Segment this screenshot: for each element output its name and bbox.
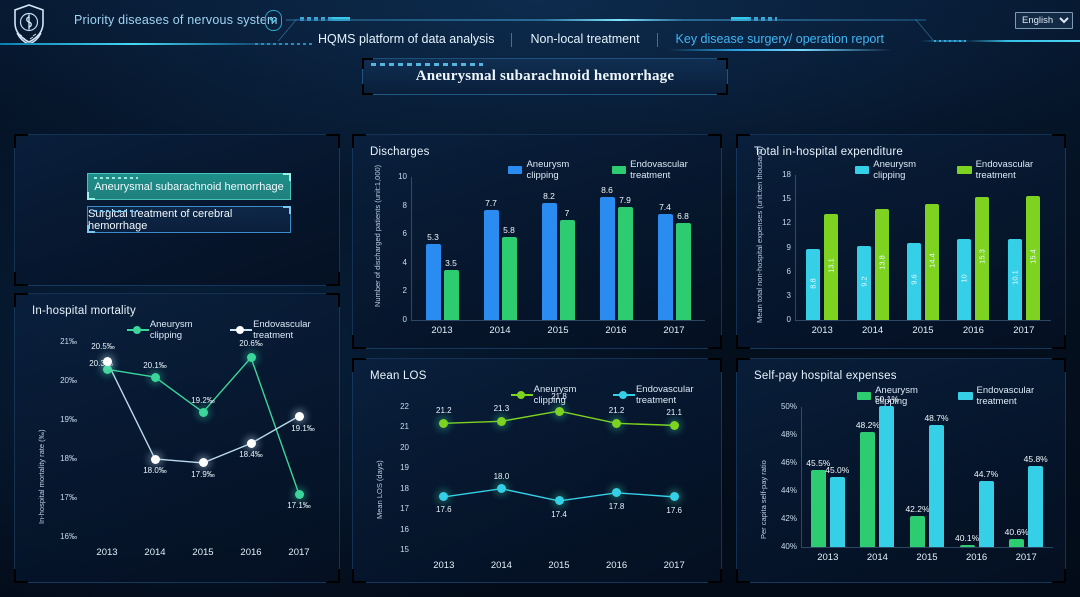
data-point-label: 17.4 — [537, 510, 581, 519]
x-axis-tick: 2013 — [796, 325, 848, 336]
bar-value-label: 45.8% — [1020, 454, 1052, 464]
nav-item-non-local-treatment[interactable]: Non-local treatment — [512, 32, 657, 46]
data-point-in_hospital_mortality-2015-s1[interactable] — [199, 458, 208, 467]
y-axis-tick: 18‰ — [43, 454, 77, 463]
y-axis-line — [411, 177, 412, 320]
mean-los-plot-area: 15161718192021222013201420152016201721.2… — [415, 407, 703, 550]
x-axis-tick: 2015 — [897, 325, 949, 336]
bar-value-label: 7 — [551, 208, 583, 218]
bar-self_pay-2013-s0[interactable] — [811, 470, 826, 547]
y-axis-tick: 22 — [383, 402, 409, 411]
y-axis-tick: 19 — [383, 463, 409, 472]
bar-discharges-2014-s1[interactable] — [502, 237, 517, 320]
bar-value-label: 3.5 — [435, 258, 467, 268]
legend-label: Aneurysm clipping — [150, 319, 216, 341]
panel-corner-tl — [736, 134, 750, 148]
bar-self_pay-2014-s1[interactable] — [879, 406, 894, 547]
discharges-plot-area: 024681020135.33.520147.75.820158.2720168… — [413, 177, 703, 320]
y-axis-tick: 20‰ — [43, 376, 77, 385]
bar-discharges-2017-s0[interactable] — [658, 214, 673, 320]
y-axis-tick: 15 — [383, 545, 409, 554]
self-pay-expenses-panel: Self-pay hospital expenses Aneurysm clip… — [736, 358, 1066, 583]
panel-corner-tr — [708, 358, 722, 372]
legend-swatch — [857, 392, 871, 400]
panel-corner-tl — [14, 134, 28, 148]
data-point-label: 17.9‰ — [181, 470, 225, 479]
panel-corner-tl — [352, 358, 366, 372]
chart-title: In-hospital mortality — [32, 305, 136, 317]
y-axis-tick: 6 — [763, 267, 791, 276]
disease-option-surgical-cerebral-hemorrhage[interactable]: Surgical treatment of cerebral hemorrhag… — [87, 206, 291, 233]
y-axis-tick: 6 — [379, 229, 407, 238]
panel-corner-bl — [736, 569, 750, 583]
panel-corner-tr — [1052, 134, 1066, 148]
x-axis-tick: 2016 — [591, 560, 643, 571]
disease-option-label: Aneurysmal subarachnoid hemorrhage — [94, 181, 284, 193]
bar-value-label: 5.3 — [417, 232, 449, 242]
chart-title: Total in-hospital expenditure — [754, 146, 903, 158]
bar-value-label: 14.4 — [928, 249, 937, 273]
data-point-label: 20.6‰ — [229, 339, 273, 348]
data-point-mean_los-2014-s1[interactable] — [497, 484, 506, 493]
bar-self_pay-2014-s0[interactable] — [860, 432, 875, 547]
data-point-mean_los-2016-s1[interactable] — [612, 488, 621, 497]
org-title: Priority diseases of nervous system — [74, 13, 278, 27]
bar-discharges-2013-s0[interactable] — [426, 244, 441, 320]
in-hospital-mortality-panel: In-hospital mortality Aneurysm clipping … — [14, 293, 340, 583]
x-axis-tick: 2017 — [648, 325, 700, 336]
data-point-in_hospital_mortality-2014-s0[interactable] — [151, 373, 160, 382]
bar-discharges-2016-s1[interactable] — [618, 207, 633, 320]
x-axis-tick: 2016 — [590, 325, 642, 336]
bar-value-label: 13.1 — [827, 254, 836, 278]
data-point-label: 19.1‰ — [281, 424, 325, 433]
button-corner-bl — [87, 225, 95, 233]
data-point-label: 21.1 — [652, 408, 696, 417]
data-point-mean_los-2015-s1[interactable] — [555, 496, 564, 505]
panel-corner-br — [708, 335, 722, 349]
y-axis-tick: 12 — [763, 218, 791, 227]
panel-corner-bl — [14, 272, 28, 286]
data-point-mean_los-2017-s1[interactable] — [670, 492, 679, 501]
panel-corner-tl — [736, 358, 750, 372]
legend-swatch — [957, 166, 971, 174]
button-deco-dots — [94, 210, 138, 212]
data-point-mean_los-2013-s1[interactable] — [439, 492, 448, 501]
panel-corner-tr — [326, 134, 340, 148]
x-axis-line — [795, 320, 1051, 321]
header-right-dots — [934, 40, 968, 42]
y-axis-tick: 50% — [769, 402, 797, 411]
page-title: Aneurysmal subarachnoid hemorrhage — [363, 59, 727, 94]
bar-value-label: 7.7 — [475, 198, 507, 208]
bar-self_pay-2015-s0[interactable] — [910, 516, 925, 547]
x-axis-tick: 2013 — [802, 552, 854, 563]
data-point-label: 17.6 — [652, 506, 696, 515]
y-axis-tick: 17 — [383, 504, 409, 513]
y-axis-line — [795, 175, 796, 320]
x-axis-tick: 2016 — [947, 325, 999, 336]
nav-item-label: HQMS platform of data analysis — [318, 32, 494, 46]
data-point-mean_los-2015-s0[interactable] — [555, 407, 564, 416]
legend-marker — [127, 326, 146, 335]
bar-value-label: 8.6 — [591, 185, 623, 195]
bar-value-label: 9.2 — [859, 269, 868, 293]
chart-title: Mean LOS — [370, 370, 427, 382]
y-axis-label: In-hospital mortality rate (‰) — [37, 429, 46, 524]
x-axis-tick: 2014 — [129, 547, 181, 558]
panel-corner-bl — [736, 335, 750, 349]
data-point-in_hospital_mortality-2017-s1[interactable] — [295, 412, 304, 421]
legend-label: Endovascular treatment — [636, 384, 721, 406]
y-axis-tick: 20 — [383, 443, 409, 452]
x-axis-tick: 2017 — [998, 325, 1050, 336]
button-corner-tr — [283, 206, 291, 214]
discharges-panel: Discharges Aneurysm clipping Endovascula… — [352, 134, 722, 349]
panel-corner-br — [326, 569, 340, 583]
bar-value-label: 8.8 — [809, 271, 818, 295]
nav-item-key-disease-surgery-report[interactable]: Key disease surgery/ operation report — [658, 32, 902, 46]
panel-corner-tr — [708, 134, 722, 148]
y-axis-tick: 46% — [769, 458, 797, 467]
x-axis-tick: 2014 — [474, 325, 526, 336]
legend-swatch — [612, 166, 626, 174]
mortality-plot-area: 16‰17‰18‰19‰20‰21‰2013201420152016201720… — [83, 342, 323, 537]
bar-discharges-2015-s0[interactable] — [542, 203, 557, 320]
bar-value-label: 7.9 — [609, 195, 641, 205]
chart-title: Self-pay hospital expenses — [754, 370, 897, 382]
bar-value-label: 50.1% — [871, 394, 903, 404]
data-point-label: 21.3 — [479, 404, 523, 413]
y-axis-tick: 0 — [379, 315, 407, 324]
button-deco-dots — [94, 177, 138, 179]
y-axis-label: Per capita self-pay ratio — [759, 460, 768, 539]
x-axis-tick: 2014 — [475, 560, 527, 571]
y-axis-tick: 10 — [379, 172, 407, 181]
legend-item-endovascular-treatment: Endovascular treatment — [958, 385, 1065, 407]
mean-los-panel: Mean LOS Aneurysm clipping Endovascular … — [352, 358, 722, 583]
panel-corner-br — [326, 272, 340, 286]
data-point-in_hospital_mortality-2015-s0[interactable] — [199, 408, 208, 417]
data-point-in_hospital_mortality-2016-s1[interactable] — [247, 439, 256, 448]
x-axis-tick: 2015 — [901, 552, 953, 563]
shield-caduceus-logo — [10, 3, 48, 45]
x-axis-tick: 2013 — [416, 325, 468, 336]
x-axis-line — [411, 320, 705, 321]
y-axis-tick: 18 — [763, 170, 791, 179]
bar-value-label: 48.7% — [921, 413, 953, 423]
button-corner-tr — [283, 173, 291, 181]
x-axis-tick: 2014 — [851, 552, 903, 563]
language-select[interactable]: English — [1015, 12, 1073, 29]
y-axis-tick: 48% — [769, 430, 797, 439]
data-point-in_hospital_mortality-2017-s0[interactable] — [295, 490, 304, 499]
legend-item-aneurysm-clipping: Aneurysm clipping — [127, 319, 216, 341]
app-header: Priority diseases of nervous system HQMS… — [0, 0, 1080, 50]
y-axis-tick: 16‰ — [43, 532, 77, 541]
bar-value-label: 9.6 — [910, 268, 919, 292]
bar-self_pay-2016-s1[interactable] — [979, 481, 994, 547]
button-corner-bl — [87, 192, 95, 200]
line-series-paths — [415, 407, 703, 550]
nav-item-label: Key disease surgery/ operation report — [676, 32, 884, 46]
page-title-banner: Aneurysmal subarachnoid hemorrhage — [362, 58, 728, 95]
bar-value-label: 10 — [960, 266, 969, 290]
y-axis-tick: 17‰ — [43, 493, 77, 502]
bar-discharges-2015-s1[interactable] — [560, 220, 575, 320]
panel-corner-bl — [14, 569, 28, 583]
legend-swatch — [508, 166, 522, 174]
bar-value-label: 8.2 — [533, 191, 565, 201]
x-axis-tick: 2015 — [532, 325, 584, 336]
y-axis-tick: 0 — [763, 315, 791, 324]
x-axis-tick: 2016 — [225, 547, 277, 558]
nav-frame-line — [286, 19, 926, 21]
legend-item-endovascular-treatment: Endovascular treatment — [613, 384, 721, 406]
nav-active-indicator — [668, 49, 892, 51]
y-axis-tick: 21 — [383, 422, 409, 431]
data-point-label: 20.5‰ — [81, 342, 125, 351]
x-axis-tick: 2013 — [418, 560, 470, 571]
panel-corner-tl — [352, 134, 366, 148]
data-point-in_hospital_mortality-2013-s1[interactable] — [103, 357, 112, 366]
bar-discharges-2013-s1[interactable] — [444, 270, 459, 320]
x-axis-tick: 2014 — [847, 325, 899, 336]
disease-option-aneurysmal-sah[interactable]: Aneurysmal subarachnoid hemorrhage — [87, 173, 291, 200]
x-axis-tick: 2013 — [81, 547, 133, 558]
legend-marker — [511, 391, 530, 400]
x-axis-tick: 2017 — [1000, 552, 1052, 563]
panel-corner-tr — [326, 293, 340, 307]
y-axis-tick: 15 — [763, 194, 791, 203]
x-axis-tick: 2017 — [648, 560, 700, 571]
bar-value-label: 6.8 — [667, 211, 699, 221]
nav-item-hqms-platform[interactable]: HQMS platform of data analysis — [300, 32, 512, 46]
bar-self_pay-2017-s1[interactable] — [1028, 466, 1043, 547]
x-axis-tick: 2015 — [177, 547, 229, 558]
data-point-label: 17.6 — [422, 505, 466, 514]
y-axis-tick: 44% — [769, 486, 797, 495]
legend-swatch — [855, 166, 869, 174]
panel-corner-br — [708, 569, 722, 583]
y-axis-tick: 8 — [379, 201, 407, 210]
y-axis-tick: 18 — [383, 484, 409, 493]
data-point-label: 17.8 — [595, 502, 639, 511]
nav-frame-right-slant — [915, 19, 959, 41]
bar-value-label: 5.8 — [493, 225, 525, 235]
data-point-label: 17.1‰ — [277, 501, 321, 510]
y-axis-tick: 19‰ — [43, 415, 77, 424]
legend-marker — [230, 326, 249, 335]
panel-corner-tl — [14, 293, 28, 307]
y-axis-line — [801, 407, 802, 547]
data-point-mean_los-2017-s0[interactable] — [670, 421, 679, 430]
bar-self_pay-2013-s1[interactable] — [830, 477, 845, 547]
data-point-in_hospital_mortality-2014-s1[interactable] — [151, 455, 160, 464]
data-point-mean_los-2013-s0[interactable] — [439, 419, 448, 428]
y-axis-tick: 4 — [379, 258, 407, 267]
bar-discharges-2017-s1[interactable] — [676, 223, 691, 320]
y-axis-tick: 21‰ — [43, 337, 77, 346]
bar-discharges-2016-s0[interactable] — [600, 197, 615, 320]
data-point-label: 19.2‰ — [181, 396, 225, 405]
bar-self_pay-2016-s0[interactable] — [960, 545, 975, 547]
panel-corner-br — [1052, 335, 1066, 349]
data-point-mean_los-2014-s0[interactable] — [497, 417, 506, 426]
y-axis-tick: 2 — [379, 286, 407, 295]
data-point-label: 21.8 — [537, 392, 581, 401]
disease-selector-panel: Aneurysmal subarachnoid hemorrhage Surgi… — [14, 134, 340, 286]
x-axis-tick: 2016 — [951, 552, 1003, 563]
self-pay-plot-area: 40%42%44%46%48%50%201345.5%45.0%201448.2… — [803, 407, 1051, 547]
nav-item-label: Non-local treatment — [530, 32, 639, 46]
data-point-mean_los-2016-s0[interactable] — [612, 419, 621, 428]
data-point-label: 21.2 — [595, 406, 639, 415]
bar-value-label: 44.7% — [970, 469, 1002, 479]
y-axis-tick: 9 — [763, 243, 791, 252]
main-nav: HQMS platform of data analysis Non-local… — [300, 28, 920, 50]
chart-title: Discharges — [370, 146, 430, 158]
bar-value-label: 15.3 — [978, 245, 987, 269]
x-axis-tick: 2017 — [273, 547, 325, 558]
legend-swatch — [958, 392, 972, 400]
data-point-label: 18.0‰ — [133, 466, 177, 475]
x-axis-tick: 2015 — [533, 560, 585, 571]
legend-label: Endovascular treatment — [977, 385, 1065, 407]
y-axis-tick: 40% — [769, 542, 797, 551]
x-axis-line — [801, 547, 1053, 548]
data-point-label: 18.0 — [479, 472, 523, 481]
bar-self_pay-2015-s1[interactable] — [929, 425, 944, 547]
bar-value-label: 45.0% — [821, 465, 853, 475]
expenditure-plot-area: 036912151820138.813.120149.213.820159.61… — [797, 175, 1049, 320]
bar-value-label: 10.1 — [1010, 266, 1019, 290]
bar-value-label: 15.4 — [1028, 244, 1037, 268]
data-point-label: 18.4‰ — [229, 450, 273, 459]
panel-corner-bl — [352, 335, 366, 349]
data-point-in_hospital_mortality-2016-s0[interactable] — [247, 353, 256, 362]
legend-marker — [613, 391, 632, 400]
bar-self_pay-2017-s0[interactable] — [1009, 539, 1024, 547]
y-axis-tick: 3 — [763, 291, 791, 300]
panel-corner-tr — [1052, 358, 1066, 372]
total-expenditure-panel: Total in-hospital expenditure Aneurysm c… — [736, 134, 1066, 349]
y-axis-tick: 42% — [769, 514, 797, 523]
data-point-label: 20.1‰ — [133, 361, 177, 370]
panel-corner-bl — [352, 569, 366, 583]
data-point-label: 21.2 — [422, 406, 466, 415]
y-axis-tick: 16 — [383, 525, 409, 534]
bar-value-label: 13.8 — [877, 251, 886, 275]
panel-corner-br — [1052, 569, 1066, 583]
